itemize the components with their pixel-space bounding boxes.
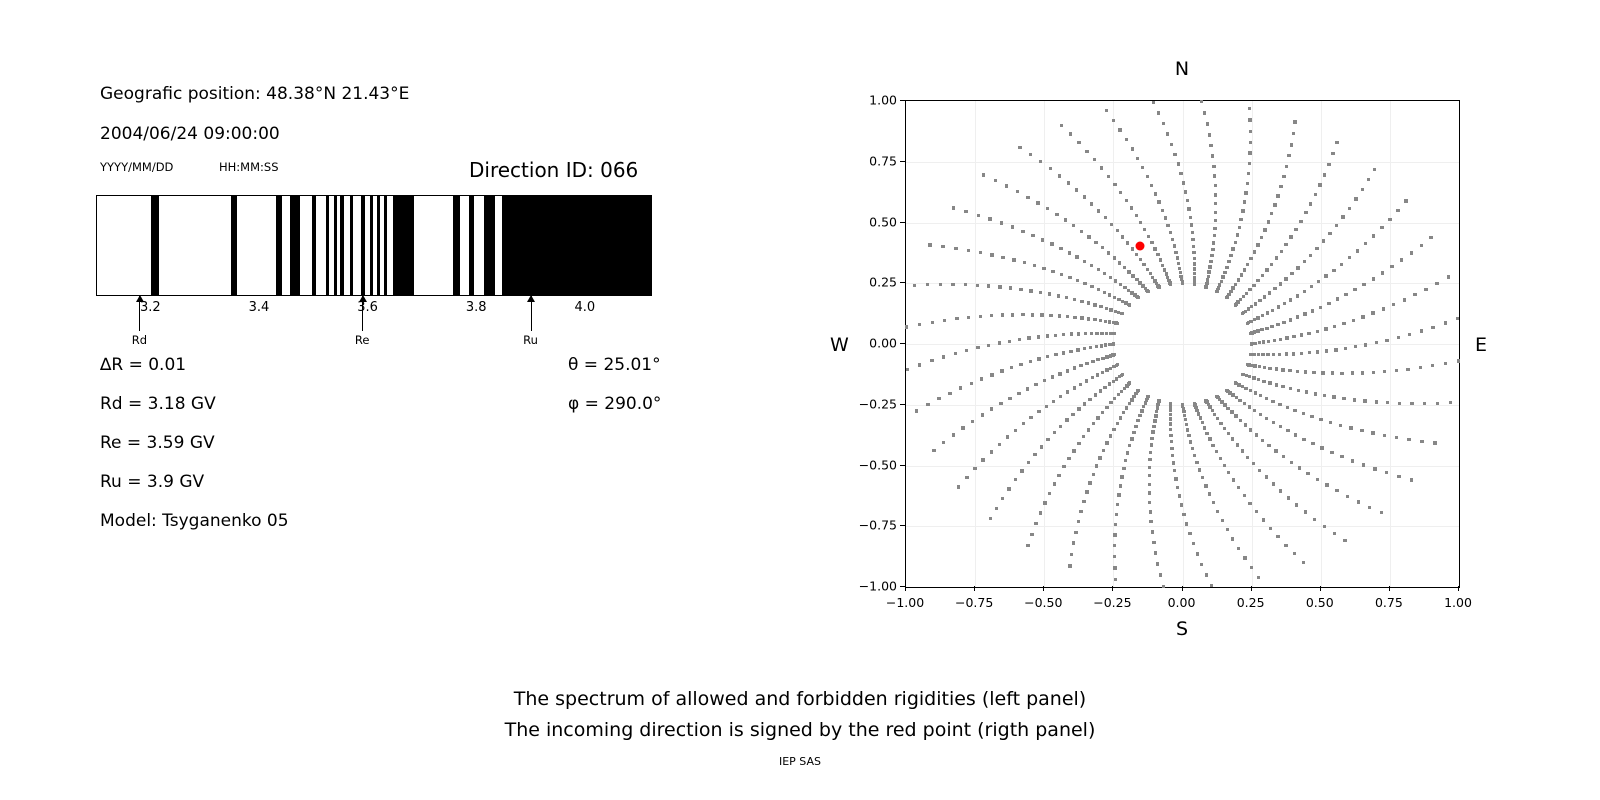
direction-sample-dot bbox=[1323, 525, 1326, 528]
direction-sample-dot bbox=[1127, 270, 1130, 273]
direction-sample-dot bbox=[930, 359, 933, 362]
direction-sample-dot bbox=[1169, 413, 1172, 416]
direction-sample-dot bbox=[1170, 440, 1173, 443]
direction-sample-dot bbox=[1271, 400, 1274, 403]
direction-sample-dot bbox=[1184, 418, 1187, 421]
direction-sample-dot bbox=[1109, 332, 1112, 335]
direction-sample-dot bbox=[1339, 424, 1342, 427]
direction-sample-dot bbox=[1152, 541, 1155, 544]
direction-sample-dot bbox=[1011, 313, 1014, 316]
direction-sample-dot bbox=[1382, 307, 1385, 310]
direction-sample-dot bbox=[1290, 143, 1293, 146]
direction-sample-dot bbox=[1184, 190, 1187, 193]
direction-sample-dot bbox=[1431, 326, 1434, 329]
direction-sample-dot bbox=[1226, 528, 1229, 531]
direction-sample-dot bbox=[1109, 434, 1112, 437]
direction-sample-dot bbox=[1053, 431, 1056, 434]
direction-sample-dot bbox=[1154, 414, 1157, 417]
direction-sample-dot bbox=[1180, 503, 1183, 506]
direction-sample-dot bbox=[1420, 244, 1423, 247]
direction-sample-dot bbox=[976, 346, 979, 349]
direction-sample-dot bbox=[1313, 518, 1316, 521]
direction-sample-dot bbox=[951, 283, 954, 286]
direction-sample-dot bbox=[1298, 466, 1301, 469]
direction-sample-dot bbox=[942, 355, 945, 358]
direction-sample-dot bbox=[1104, 216, 1107, 219]
direction-sample-dot bbox=[1351, 459, 1354, 462]
direction-sample-dot bbox=[1096, 358, 1099, 361]
direction-sample-dot bbox=[1258, 341, 1261, 344]
direction-sample-dot bbox=[1112, 119, 1115, 122]
direction-sample-dot bbox=[1252, 462, 1255, 465]
direction-sample-dot bbox=[1159, 258, 1162, 261]
direction-sample-dot bbox=[1273, 203, 1276, 206]
direction-sample-dot bbox=[1261, 314, 1264, 317]
direction-sample-dot bbox=[1055, 213, 1058, 216]
direction-sample-dot bbox=[1246, 263, 1249, 266]
direction-sample-dot bbox=[1109, 276, 1112, 279]
forbidden-band bbox=[377, 196, 380, 295]
direction-sample-dot bbox=[1316, 350, 1319, 353]
direction-sample-dot bbox=[1085, 150, 1088, 153]
param-rd: Rd = 3.18 GV bbox=[100, 394, 216, 414]
direction-sample-dot bbox=[990, 253, 993, 256]
direction-sample-dot bbox=[1096, 373, 1099, 376]
direction-sample-dot bbox=[1046, 207, 1049, 210]
direction-sample-dot bbox=[1241, 449, 1244, 452]
direction-sample-dot bbox=[1116, 229, 1119, 232]
direction-sample-dot bbox=[1380, 226, 1383, 229]
direction-sample-dot bbox=[1117, 393, 1120, 396]
direction-sample-dot bbox=[926, 283, 929, 286]
forbidden-band bbox=[276, 196, 282, 295]
direction-sample-dot bbox=[1435, 282, 1438, 285]
direction-sample-dot bbox=[1113, 544, 1116, 547]
direction-sample-dot bbox=[955, 317, 958, 320]
direction-sample-dot bbox=[1034, 383, 1037, 386]
direction-sample-dot bbox=[1252, 376, 1255, 379]
direction-sample-dot bbox=[928, 243, 931, 246]
direction-sample-dot bbox=[1126, 241, 1129, 244]
direction-sample-dot bbox=[1073, 298, 1076, 301]
direction-sample-dot bbox=[1093, 303, 1096, 306]
forbidden-band bbox=[312, 196, 315, 295]
direction-sample-dot bbox=[1115, 377, 1118, 380]
spectrum-marker-re bbox=[362, 295, 363, 331]
x-axis-tick-mark bbox=[905, 586, 906, 591]
direction-sample-dot bbox=[1213, 227, 1216, 230]
direction-sample-dot bbox=[1256, 316, 1259, 319]
direction-sample-dot bbox=[1148, 458, 1151, 461]
direction-sample-dot bbox=[1433, 441, 1436, 444]
direction-sample-dot bbox=[1248, 288, 1251, 291]
direction-sample-dot bbox=[1258, 299, 1261, 302]
direction-sample-dot bbox=[1079, 383, 1082, 386]
direction-sample-dot bbox=[1034, 522, 1037, 525]
incoming-direction-point bbox=[1135, 241, 1144, 250]
direction-sample-dot bbox=[1266, 353, 1269, 356]
direction-sample-dot bbox=[1067, 181, 1070, 184]
direction-sample-dot bbox=[1018, 338, 1021, 341]
direction-sample-dot bbox=[1302, 412, 1305, 415]
direction-sample-dot bbox=[1293, 409, 1296, 412]
direction-sample-dot bbox=[1031, 313, 1034, 316]
direction-sample-dot bbox=[1087, 428, 1090, 431]
direction-sample-dot bbox=[1340, 372, 1343, 375]
direction-sample-dot bbox=[1210, 584, 1213, 587]
direction-sample-dot bbox=[905, 325, 908, 328]
direction-sample-dot bbox=[1097, 209, 1100, 212]
direction-sample-dot bbox=[1325, 483, 1328, 486]
direction-sample-dot bbox=[1302, 561, 1305, 564]
forbidden-band bbox=[340, 196, 344, 295]
param-re: Re = 3.59 GV bbox=[100, 433, 215, 453]
y-axis-tick-mark bbox=[900, 343, 905, 344]
direction-sample-dot bbox=[1403, 298, 1406, 301]
direction-sample-dot bbox=[1176, 486, 1179, 489]
direction-sample-dot bbox=[1153, 279, 1156, 282]
direction-sample-dot bbox=[1294, 228, 1297, 231]
direction-sample-dot bbox=[1284, 243, 1287, 246]
direction-sample-dot bbox=[1247, 172, 1250, 175]
direction-sample-dot bbox=[1043, 379, 1046, 382]
direction-sample-dot bbox=[1113, 296, 1116, 299]
direction-sample-dot bbox=[1030, 533, 1033, 536]
direction-sample-dot bbox=[1457, 359, 1460, 362]
spectrum-xtick-label: 4.0 bbox=[574, 300, 595, 315]
direction-sample-dot bbox=[1059, 425, 1062, 428]
direction-sample-dot bbox=[1148, 491, 1151, 494]
direction-sample-dot bbox=[1053, 482, 1056, 485]
direction-sample-dot bbox=[1257, 576, 1260, 579]
direction-sample-dot bbox=[1340, 455, 1343, 458]
direction-sample-dot bbox=[1138, 414, 1141, 417]
direction-sample-dot bbox=[1265, 268, 1268, 271]
x-axis-tick-label: −0.75 bbox=[955, 595, 993, 610]
param-delta-r: ∆R = 0.01 bbox=[100, 355, 186, 375]
direction-sample-dot bbox=[1308, 351, 1311, 354]
direction-sample-dot bbox=[1330, 451, 1333, 454]
direction-sample-dot bbox=[1283, 302, 1286, 305]
direction-sample-dot bbox=[1392, 303, 1395, 306]
y-axis-tick-mark bbox=[900, 282, 905, 283]
direction-sample-dot bbox=[1088, 398, 1091, 401]
direction-sample-dot bbox=[1186, 199, 1189, 202]
direction-sample-dot bbox=[981, 413, 984, 416]
direction-sample-dot bbox=[1324, 274, 1327, 277]
direction-sample-dot bbox=[976, 284, 979, 287]
direction-sample-dot bbox=[1375, 341, 1378, 344]
direction-sample-dot bbox=[1315, 247, 1318, 250]
direction-sample-dot bbox=[1314, 392, 1317, 395]
direction-sample-dot bbox=[1136, 157, 1139, 160]
direction-sample-dot bbox=[1289, 318, 1292, 321]
direction-sample-dot bbox=[1083, 195, 1086, 198]
direction-sample-dot bbox=[1117, 298, 1120, 301]
direction-sample-dot bbox=[1121, 300, 1124, 303]
direction-sample-dot bbox=[1152, 425, 1155, 428]
direction-sample-dot bbox=[1167, 279, 1170, 282]
direction-sample-dot bbox=[1318, 183, 1321, 186]
direction-sample-dot bbox=[1311, 442, 1314, 445]
direction-sample-dot bbox=[1231, 247, 1234, 250]
direction-sample-dot bbox=[1157, 200, 1160, 203]
direction-sample-dot bbox=[1444, 321, 1447, 324]
direction-sample-dot bbox=[1119, 191, 1122, 194]
direction-sample-dot bbox=[1289, 298, 1292, 301]
direction-sample-dot bbox=[1278, 403, 1281, 406]
direction-sample-dot bbox=[918, 323, 921, 326]
caption-line-2: The incoming direction is signed by the … bbox=[0, 715, 1600, 746]
direction-sample-dot bbox=[1289, 235, 1292, 238]
direction-sample-dot bbox=[1062, 465, 1065, 468]
direction-sample-dot bbox=[1171, 238, 1174, 241]
direction-sample-dot bbox=[1169, 422, 1172, 425]
direction-sample-dot bbox=[1153, 419, 1156, 422]
direction-sample-dot bbox=[1410, 478, 1413, 481]
direction-sample-dot bbox=[1263, 295, 1266, 298]
direction-sample-dot bbox=[1174, 477, 1177, 480]
direction-sample-dot bbox=[1039, 511, 1042, 514]
direction-sample-dot bbox=[1049, 314, 1052, 317]
direction-sample-dot bbox=[1388, 218, 1391, 221]
direction-sample-dot bbox=[1348, 207, 1351, 210]
direction-sample-dot bbox=[1240, 273, 1243, 276]
direction-sample-dot bbox=[1021, 313, 1024, 316]
direction-sample-dot bbox=[1346, 495, 1349, 498]
direction-sample-dot bbox=[1200, 100, 1203, 103]
direction-sample-dot bbox=[1027, 461, 1030, 464]
direction-sample-dot bbox=[1136, 419, 1139, 422]
direction-sample-dot bbox=[1142, 405, 1145, 408]
direction-sample-dot bbox=[1125, 406, 1128, 409]
direction-sample-dot bbox=[1243, 556, 1246, 559]
direction-sample-dot bbox=[1154, 551, 1157, 554]
direction-sample-dot bbox=[1248, 375, 1251, 378]
direction-sample-dot bbox=[1362, 463, 1365, 466]
direction-sample-dot bbox=[1320, 446, 1323, 449]
direction-sample-dot bbox=[1083, 402, 1086, 405]
direction-sample-dot bbox=[1356, 249, 1359, 252]
direction-sample-dot bbox=[1357, 500, 1360, 503]
direction-sample-dot bbox=[1000, 221, 1003, 224]
x-axis-tick-label: 0.25 bbox=[1237, 595, 1265, 610]
direction-sample-dot bbox=[1001, 313, 1004, 316]
datetime-label: 2004/06/24 09:00:00 bbox=[100, 124, 280, 144]
direction-sample-dot bbox=[1279, 282, 1282, 285]
direction-sample-dot bbox=[1033, 264, 1036, 267]
direction-sample-dot bbox=[1010, 366, 1013, 369]
direction-sample-dot bbox=[1109, 354, 1112, 357]
direction-sample-dot bbox=[1121, 235, 1124, 238]
direction-sample-dot bbox=[1138, 281, 1141, 284]
direction-sample-dot bbox=[1265, 475, 1268, 478]
direction-sample-dot bbox=[1193, 276, 1196, 279]
direction-sample-dot bbox=[1191, 238, 1194, 241]
direction-sample-dot bbox=[1083, 260, 1086, 263]
direction-sample-dot bbox=[1114, 279, 1117, 282]
x-axis-tick-label: 1.00 bbox=[1444, 595, 1472, 610]
direction-sample-dot bbox=[1234, 414, 1237, 417]
direction-sample-dot bbox=[1074, 531, 1077, 534]
direction-sample-dot bbox=[1118, 128, 1121, 131]
direction-sample-dot bbox=[1367, 178, 1370, 181]
direction-sample-dot bbox=[1166, 276, 1169, 279]
direction-sample-dot bbox=[1248, 502, 1251, 505]
direction-sample-dot bbox=[1154, 192, 1157, 195]
direction-sample-dot bbox=[1159, 573, 1162, 576]
direction-sample-dot bbox=[1219, 457, 1222, 460]
direction-sample-dot bbox=[1304, 211, 1307, 214]
direction-sample-dot bbox=[1429, 236, 1432, 239]
direction-sample-dot bbox=[1165, 272, 1168, 275]
direction-sample-dot bbox=[1118, 261, 1121, 264]
direction-sample-dot bbox=[1305, 390, 1308, 393]
direction-sample-dot bbox=[964, 283, 967, 286]
direction-sample-dot bbox=[1205, 282, 1208, 285]
direction-sample-dot bbox=[1276, 323, 1279, 326]
direction-sample-dot bbox=[1250, 305, 1253, 308]
geographic-position-label: Geografic position: 48.38°N 21.43°E bbox=[100, 84, 409, 104]
direction-sample-dot bbox=[1214, 219, 1217, 222]
direction-sample-dot bbox=[1148, 501, 1151, 504]
direction-sample-dot bbox=[1371, 431, 1374, 434]
direction-sample-dot bbox=[1075, 188, 1078, 191]
direction-sample-dot bbox=[1182, 513, 1185, 516]
direction-sample-dot bbox=[1323, 173, 1326, 176]
direction-sample-dot bbox=[1214, 184, 1217, 187]
direction-sample-dot bbox=[1276, 194, 1279, 197]
direction-sample-dot bbox=[1199, 416, 1202, 419]
direction-sample-dot bbox=[1164, 216, 1167, 219]
direction-sample-dot bbox=[1265, 397, 1268, 400]
direction-sample-dot bbox=[1303, 290, 1306, 293]
direction-sample-dot bbox=[1001, 497, 1004, 500]
direction-sample-dot bbox=[1113, 397, 1116, 400]
direction-sample-dot bbox=[1290, 272, 1293, 275]
direction-sample-dot bbox=[1080, 300, 1083, 303]
direction-sample-dot bbox=[1107, 251, 1110, 254]
direction-sample-dot bbox=[952, 206, 955, 209]
direction-sample-dot bbox=[1262, 380, 1265, 383]
direction-sample-dot bbox=[1279, 425, 1282, 428]
direction-sample-dot bbox=[1191, 231, 1194, 234]
direction-sample-dot bbox=[1328, 232, 1331, 235]
direction-sample-dot bbox=[1125, 138, 1128, 141]
direction-sample-dot bbox=[1066, 369, 1069, 372]
direction-sample-dot bbox=[995, 507, 998, 510]
direction-sample-dot bbox=[1261, 274, 1264, 277]
direction-sample-dot bbox=[1295, 503, 1298, 506]
direction-sample-dot bbox=[1372, 371, 1375, 374]
direction-sample-dot bbox=[1068, 276, 1071, 279]
direction-sample-dot bbox=[1068, 251, 1071, 254]
direction-sample-dot bbox=[1287, 496, 1290, 499]
direction-sample-dot bbox=[1103, 291, 1106, 294]
x-axis-tick-mark bbox=[1458, 586, 1459, 591]
direction-sample-dot bbox=[1177, 262, 1180, 265]
direction-sample-dot bbox=[1180, 278, 1183, 281]
direction-sample-dot bbox=[1420, 329, 1423, 332]
direction-sample-dot bbox=[1212, 165, 1215, 168]
direction-sample-dot bbox=[1193, 454, 1196, 457]
direction-sample-dot bbox=[1135, 214, 1138, 217]
direction-sample-dot bbox=[1042, 267, 1045, 270]
direction-sample-dot bbox=[1172, 461, 1175, 464]
direction-sample-dot bbox=[1130, 291, 1133, 294]
direction-sample-dot bbox=[1253, 409, 1256, 412]
direction-sample-dot bbox=[1020, 469, 1023, 472]
direction-sample-dot bbox=[1085, 362, 1088, 365]
direction-sample-dot bbox=[1069, 350, 1072, 353]
direction-sample-dot bbox=[1218, 283, 1221, 286]
direction-sample-dot bbox=[1148, 466, 1151, 469]
direction-sample-dot bbox=[1072, 449, 1075, 452]
direction-sample-dot bbox=[1273, 339, 1276, 342]
compass-label-east: E bbox=[1475, 334, 1487, 356]
direction-sample-dot bbox=[1156, 562, 1159, 565]
direction-sample-dot bbox=[1243, 494, 1246, 497]
direction-sample-dot bbox=[1040, 445, 1043, 448]
direction-sample-dot bbox=[1000, 369, 1003, 372]
direction-sample-dot bbox=[1364, 343, 1367, 346]
direction-sample-dot bbox=[1275, 256, 1278, 259]
direction-sample-dot bbox=[1069, 132, 1072, 135]
direction-sample-dot bbox=[1229, 290, 1232, 293]
direction-sample-dot bbox=[1293, 552, 1296, 555]
direction-sample-dot bbox=[1214, 202, 1217, 205]
direction-sample-dot bbox=[1220, 280, 1223, 283]
direction-sample-dot bbox=[1271, 309, 1274, 312]
direction-sample-dot bbox=[999, 402, 1002, 405]
direction-sample-dot bbox=[1242, 295, 1245, 298]
y-axis-tick-label: −0.25 bbox=[835, 396, 897, 411]
direction-sample-dot bbox=[1105, 109, 1108, 112]
direction-sample-dot bbox=[1364, 242, 1367, 245]
direction-sample-dot bbox=[1372, 234, 1375, 237]
direction-sample-dot bbox=[1431, 364, 1434, 367]
direction-sample-dot bbox=[1090, 264, 1093, 267]
direction-sample-dot bbox=[1058, 372, 1061, 375]
direction-sample-dot bbox=[1273, 287, 1276, 290]
direction-sample-dot bbox=[1270, 325, 1273, 328]
direction-sample-dot bbox=[1206, 122, 1209, 125]
direction-sample-dot bbox=[967, 249, 970, 252]
direction-sample-dot bbox=[1248, 151, 1251, 154]
direction-sample-dot bbox=[1316, 478, 1319, 481]
direction-sample-dot bbox=[1300, 352, 1303, 355]
direction-sample-dot bbox=[1300, 333, 1303, 336]
direction-sample-dot bbox=[1193, 267, 1196, 270]
forbidden-band bbox=[384, 196, 387, 295]
direction-sample-dot bbox=[1105, 406, 1108, 409]
direction-sample-dot bbox=[1079, 510, 1082, 513]
direction-sample-dot bbox=[1119, 283, 1122, 286]
direction-sample-dot bbox=[1115, 513, 1118, 516]
gridline-horizontal bbox=[906, 223, 1459, 224]
direction-sample-dot bbox=[1396, 209, 1399, 212]
direction-sample-dot bbox=[1221, 275, 1224, 278]
direction-sample-dot bbox=[1215, 450, 1218, 453]
direction-sample-dot bbox=[1036, 201, 1039, 204]
direction-sample-dot bbox=[990, 407, 993, 410]
direction-sample-dot bbox=[1231, 437, 1234, 440]
direction-sample-dot bbox=[1037, 410, 1040, 413]
direction-sample-dot bbox=[1048, 292, 1051, 295]
direction-sample-dot bbox=[1080, 230, 1083, 233]
direction-sample-dot bbox=[1185, 522, 1188, 525]
direction-sample-dot bbox=[1268, 367, 1271, 370]
